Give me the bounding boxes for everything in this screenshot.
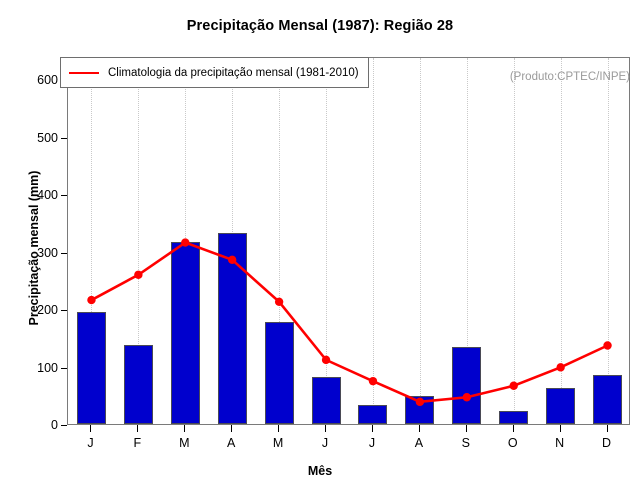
x-axis-tick-label: M xyxy=(273,436,283,450)
gridline xyxy=(561,58,562,424)
chart-title: Precipitação Mensal (1987): Região 28 xyxy=(0,18,640,34)
gridline xyxy=(608,58,609,424)
x-axis-tick-label: S xyxy=(462,436,470,450)
x-axis: JFMAMJJASOND Mês xyxy=(0,425,640,500)
x-axis-title: Mês xyxy=(0,464,640,478)
bar xyxy=(77,312,106,424)
x-axis-tick-label: D xyxy=(602,436,611,450)
x-axis-tick xyxy=(419,425,420,432)
bar xyxy=(358,405,387,424)
x-axis-tick xyxy=(90,425,91,432)
precipitation-chart: Precipitação Mensal (1987): Região 28 01… xyxy=(0,0,640,500)
x-axis-tick-label: A xyxy=(415,436,423,450)
y-axis-tick xyxy=(61,253,67,254)
y-axis-tick xyxy=(61,138,67,139)
bar xyxy=(124,345,153,424)
plot-area xyxy=(67,57,630,425)
bar xyxy=(265,322,294,424)
x-axis-tick-label: J xyxy=(87,436,93,450)
bar xyxy=(405,396,434,424)
bar xyxy=(593,375,622,424)
x-axis-tick-label: J xyxy=(369,436,375,450)
x-axis-tick xyxy=(278,425,279,432)
y-axis-title: Precipitação mensal (mm) xyxy=(27,128,41,368)
climatology-line xyxy=(91,243,607,402)
x-axis-tick-label: J xyxy=(322,436,328,450)
gridline xyxy=(326,58,327,424)
y-axis-tick xyxy=(61,195,67,196)
x-axis-tick-label: F xyxy=(134,436,142,450)
product-credit: (Produto:CPTEC/INPE) xyxy=(510,71,630,83)
bar xyxy=(218,233,247,424)
bar xyxy=(499,411,528,424)
bar xyxy=(312,377,341,424)
bar xyxy=(171,242,200,424)
y-axis-tick xyxy=(61,310,67,311)
x-axis-tick-label: N xyxy=(555,436,564,450)
legend-label-climatology: Climatologia da precipitação mensal (198… xyxy=(108,67,359,79)
x-axis-tick xyxy=(325,425,326,432)
bar xyxy=(452,347,481,424)
x-axis-tick-label: M xyxy=(179,436,189,450)
gridline xyxy=(420,58,421,424)
x-axis-tick xyxy=(513,425,514,432)
x-axis-tick xyxy=(607,425,608,432)
x-axis-tick xyxy=(184,425,185,432)
x-axis-tick xyxy=(137,425,138,432)
x-axis-tick xyxy=(372,425,373,432)
y-axis-tick xyxy=(61,368,67,369)
chart-legend: Climatologia da precipitação mensal (198… xyxy=(60,57,369,88)
gridline xyxy=(514,58,515,424)
gridline xyxy=(373,58,374,424)
y-axis-tick-label: 600 xyxy=(37,73,58,87)
legend-line-swatch-icon xyxy=(69,72,99,74)
bar xyxy=(546,388,575,424)
x-axis-tick xyxy=(231,425,232,432)
x-axis-tick-label: O xyxy=(508,436,518,450)
x-axis-tick xyxy=(560,425,561,432)
x-axis-tick-label: A xyxy=(227,436,235,450)
x-axis-tick xyxy=(466,425,467,432)
